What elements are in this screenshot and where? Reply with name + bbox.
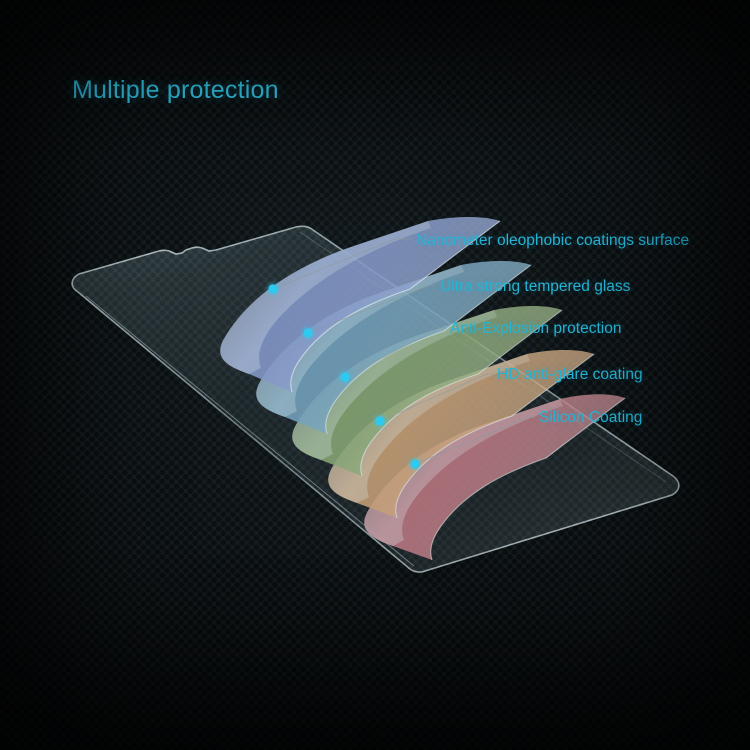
- page-title: Multiple protection: [72, 76, 279, 105]
- layer-label-5: Silicon Coating: [539, 409, 642, 427]
- layer-label-4: HD anti-glare coating: [497, 366, 643, 384]
- layer-marker-2: [303, 328, 312, 337]
- layer-marker-1: [268, 284, 277, 293]
- layer-marker-5: [410, 459, 419, 468]
- product-illustration-canvas: Multiple protection Nanometer oleophobic…: [0, 0, 750, 750]
- layer-marker-3: [340, 372, 349, 381]
- layer-label-3: Anti-Explosion protection: [450, 320, 621, 338]
- layer-marker-4: [375, 416, 384, 425]
- layer-label-2: Ultra strong tempered glass: [440, 278, 630, 296]
- layer-label-1: Nanometer oleophobic coatings surface: [416, 232, 689, 250]
